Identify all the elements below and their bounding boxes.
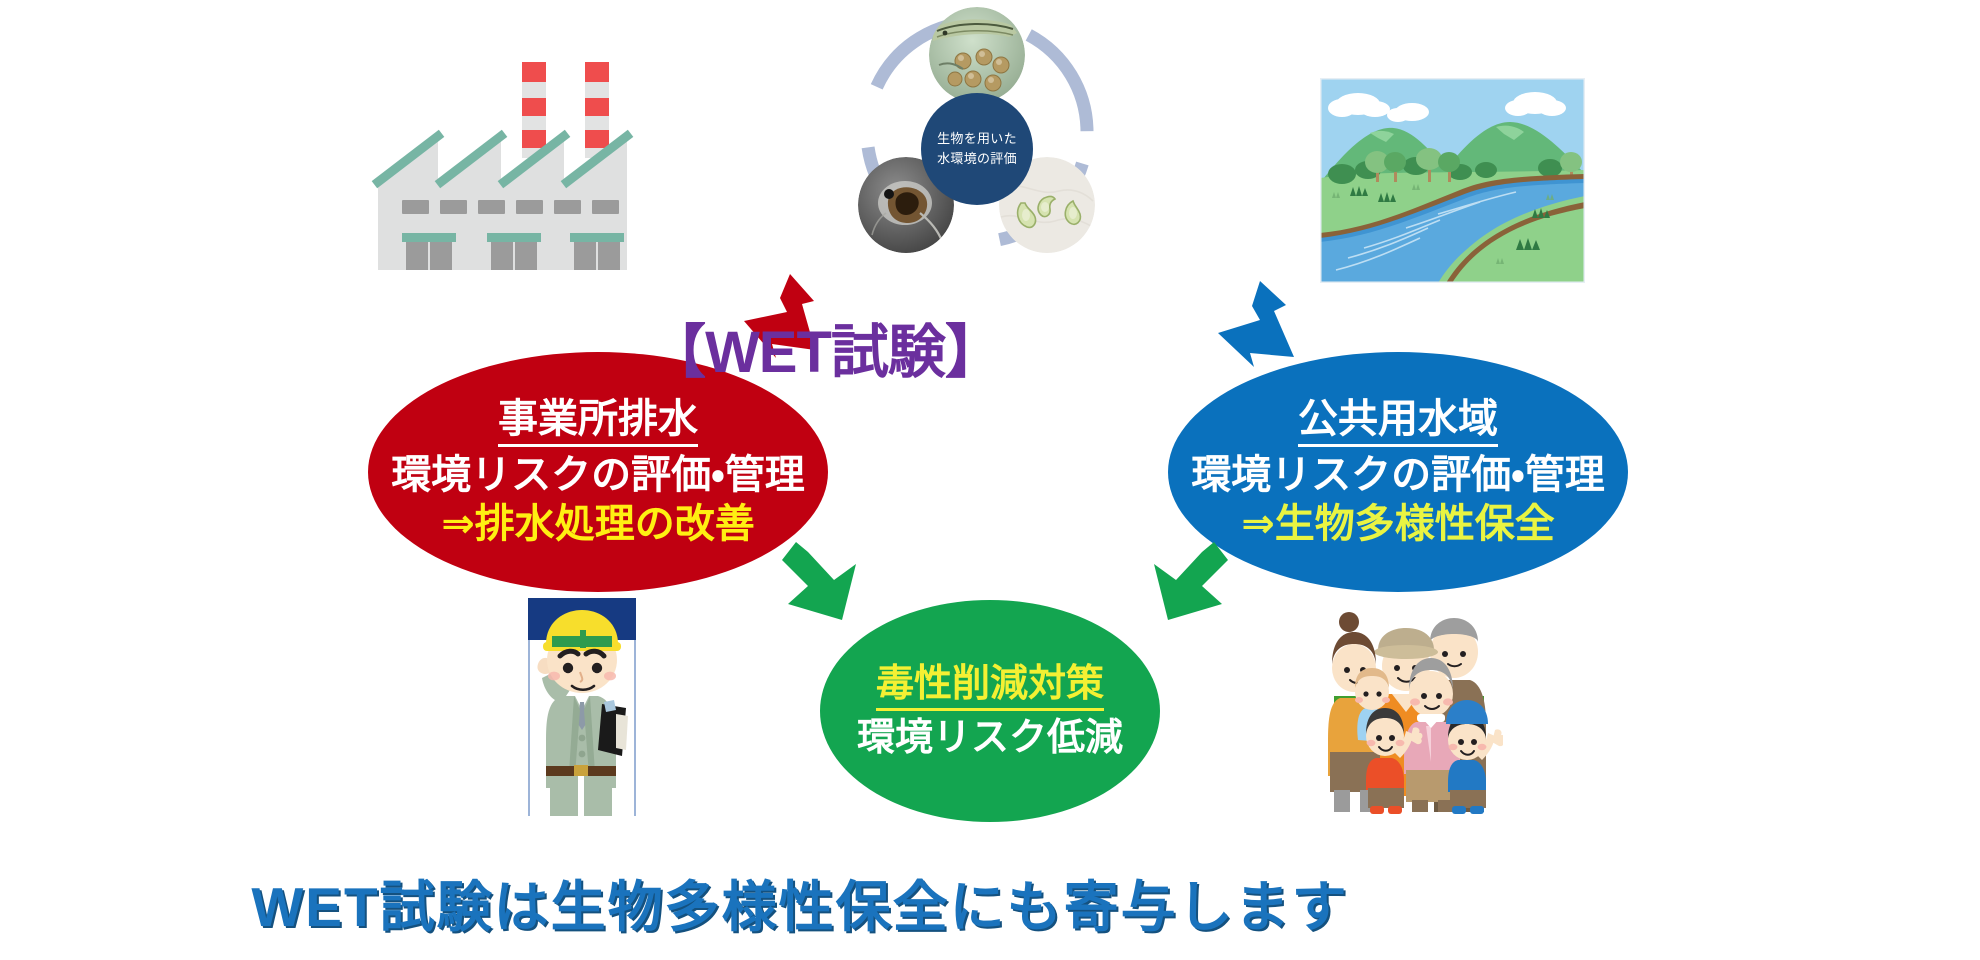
green-arrow-to-center-right-icon [1102,538,1232,643]
ellipse-blue-line1: 公共用水域 [1298,397,1498,447]
river-landscape-icon [1320,78,1585,283]
family-icon [1318,600,1503,815]
infographic-canvas: 生物を用いた 水環境の評価 [0,0,1980,960]
ellipse-red-line2: 環境リスクの評価・管理 [391,453,805,498]
ellipse-green-line2: 環境リスク低減 [857,717,1123,760]
concept-center-line2: 水環境の評価 [937,149,1017,169]
river-landscape-illustration [1320,78,1585,283]
page-title: 【WET試験】 [0,305,1980,389]
factory-illustration [370,58,660,278]
factory-icon [370,58,660,278]
worker-illustration [518,598,646,816]
fish-egg-photo [929,7,1025,103]
concept-center-circle: 生物を用いた 水環境の評価 [921,93,1033,205]
concept-diagram: 生物を用いた 水環境の評価 [845,5,1155,285]
page-title-text: 【WET試験】 [648,320,1002,385]
worker-icon [518,598,646,816]
ellipse-blue-line2: 環境リスクの評価・管理 [1191,453,1605,498]
ellipse-blue-line3: ⇒生物多様性保全 [1241,502,1555,547]
concept-center-line1: 生物を用いた [937,129,1017,149]
green-arrow-to-center-left-icon [778,538,908,643]
ellipse-red-line1: 事業所排水 [498,397,698,447]
ellipse-red-line3: ⇒排水処理の改善 [441,502,755,547]
bottom-caption: WET試験は生物多様性保全にも寄与します [0,862,1980,942]
family-illustration [1318,600,1503,815]
ellipse-green-line1: 毒性削減対策 [876,663,1104,711]
bottom-caption-text: WET試験は生物多様性保全にも寄与します [251,876,1348,938]
